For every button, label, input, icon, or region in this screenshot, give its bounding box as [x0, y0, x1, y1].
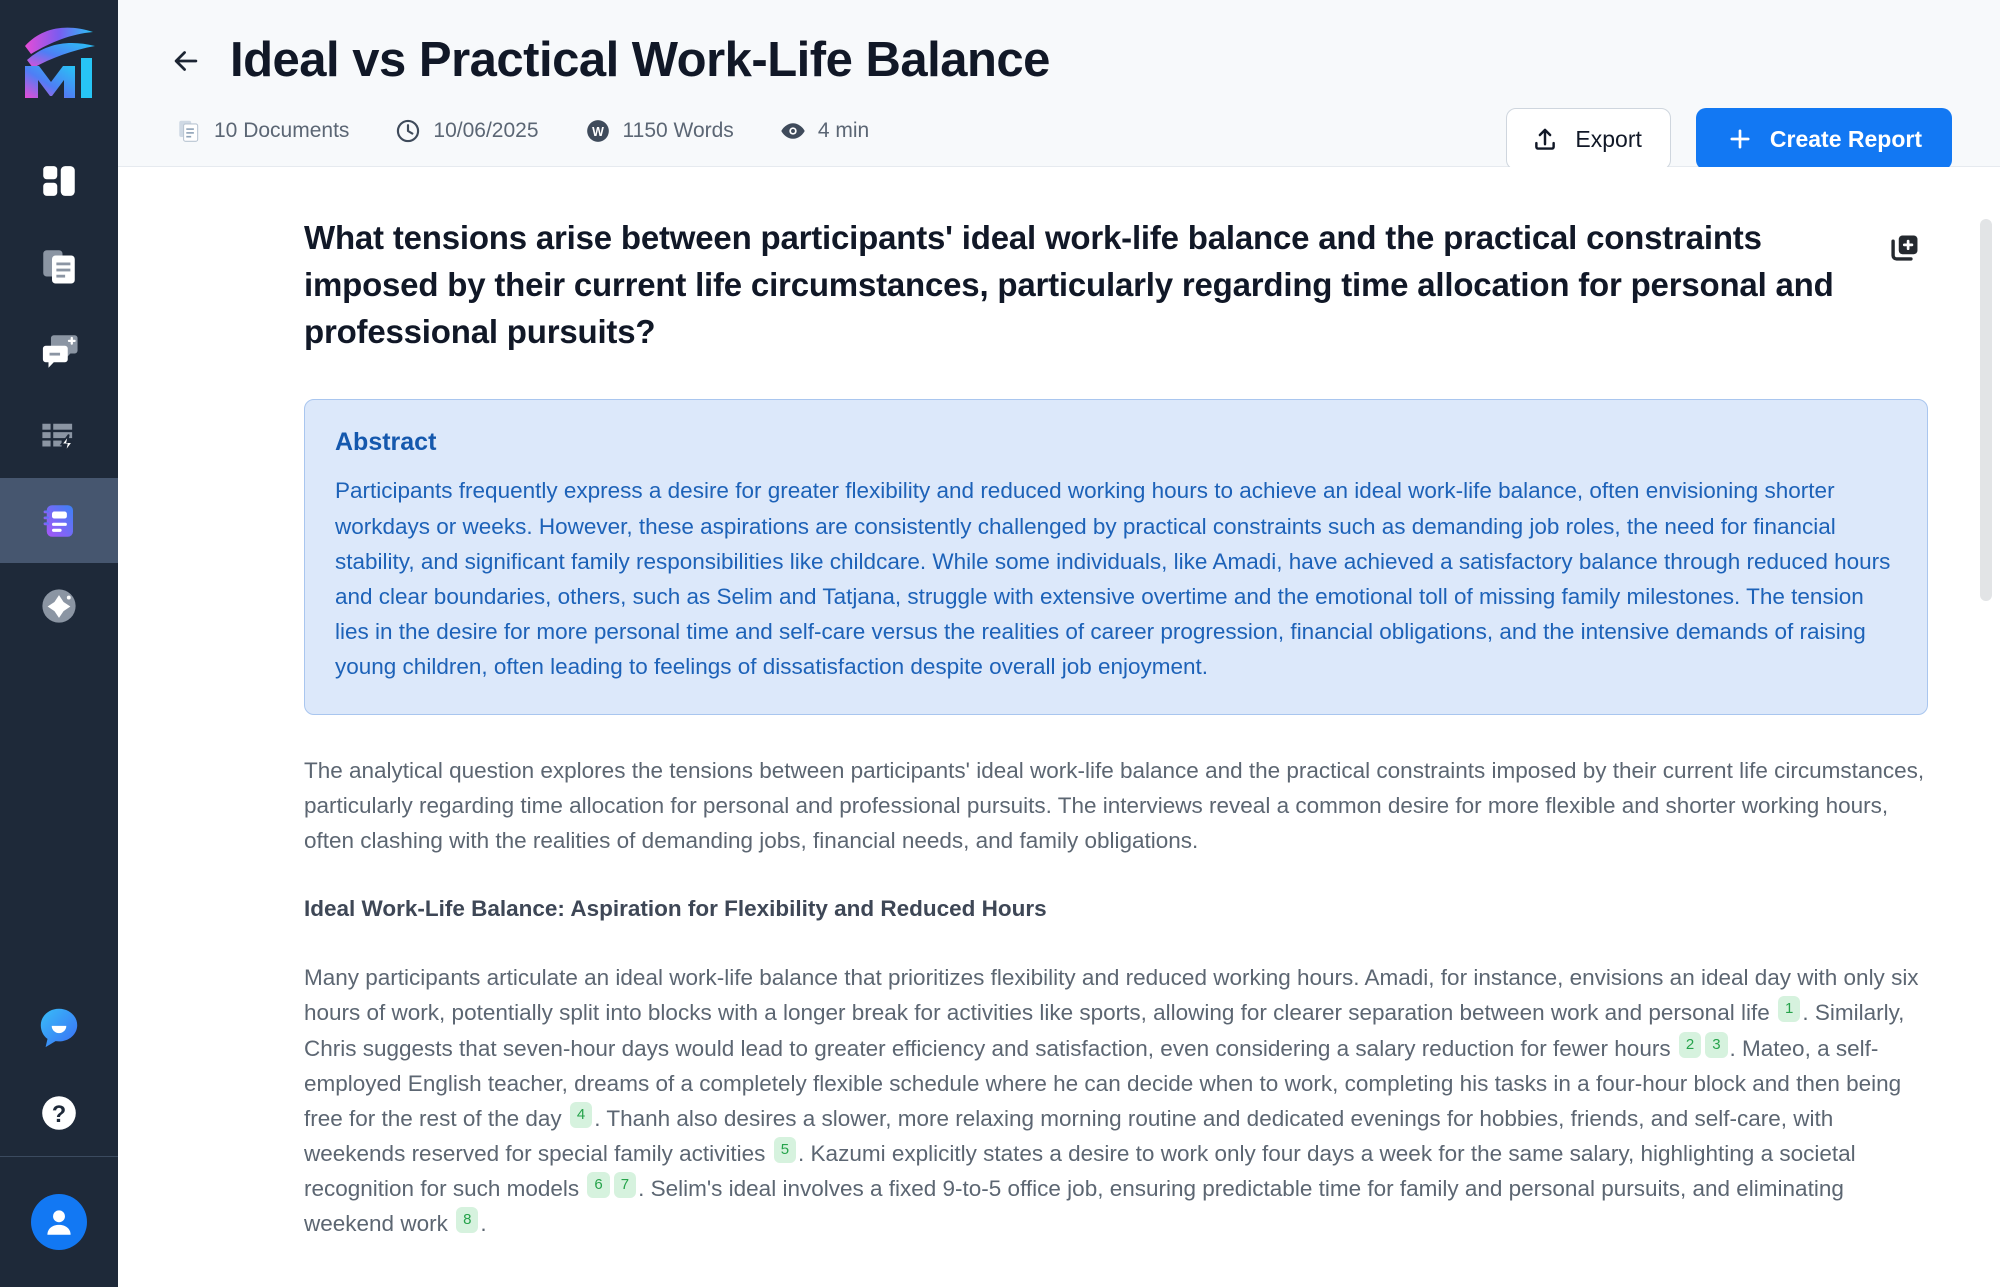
- sparkle-diamond-icon: [38, 585, 80, 627]
- table-lightning-icon: [38, 415, 80, 457]
- documents-icon: [38, 245, 80, 287]
- body-paragraph-with-citations: Many participants articulate an ideal wo…: [304, 960, 1928, 1241]
- sidebar-item-matrix[interactable]: [0, 393, 118, 478]
- header-title-row: Ideal vs Practical Work-Life Balance: [166, 34, 1952, 88]
- user-avatar-icon: [42, 1205, 76, 1239]
- app-root: ?: [0, 0, 2000, 1287]
- header-actions: Export Create Report: [1506, 108, 1952, 170]
- eye-icon: [780, 118, 806, 144]
- plus-icon: [1726, 125, 1754, 153]
- citation-4[interactable]: 4: [570, 1102, 592, 1128]
- arrow-left-icon: [169, 44, 203, 78]
- main-area: Ideal vs Practical Work-Life Balance 10 …: [118, 0, 2000, 1287]
- meta-readtime: 4 min: [780, 118, 869, 144]
- add-to-report-button[interactable]: [1882, 225, 1928, 271]
- page-title: Ideal vs Practical Work-Life Balance: [230, 34, 1050, 88]
- citation-1[interactable]: 1: [1778, 996, 1800, 1022]
- section-heading: Ideal Work-Life Balance: Aspiration for …: [304, 896, 1928, 922]
- meta-words: W 1150 Words: [585, 118, 734, 144]
- sidebar-item-chats[interactable]: [0, 308, 118, 393]
- question-mark-icon: ?: [38, 1092, 80, 1134]
- body-segment: Many participants articulate an ideal wo…: [304, 965, 1919, 1025]
- clock-icon: [395, 118, 421, 144]
- left-sidebar: ?: [0, 0, 118, 1287]
- app-logo[interactable]: [0, 0, 118, 118]
- support-chat-button[interactable]: [0, 984, 118, 1070]
- mi-logo-icon: [21, 20, 97, 102]
- page-header: Ideal vs Practical Work-Life Balance 10 …: [118, 0, 2000, 167]
- content-scrollbar-track[interactable]: [1980, 167, 1992, 1287]
- meta-list: 10 Documents 10/06/2025 W: [166, 118, 869, 144]
- content-scroll-region: What tensions arise between participants…: [118, 167, 2000, 1287]
- add-to-report-icon: [1888, 231, 1922, 265]
- meta-date-label: 10/06/2025: [433, 119, 538, 143]
- sidebar-bottom: ?: [0, 984, 118, 1287]
- sidebar-item-dashboard[interactable]: [0, 138, 118, 223]
- citation-8[interactable]: 8: [456, 1207, 478, 1233]
- meta-date: 10/06/2025: [395, 118, 538, 144]
- citation-5[interactable]: 5: [774, 1137, 796, 1163]
- chat-add-icon: [38, 330, 80, 372]
- svg-text:?: ?: [52, 1102, 66, 1128]
- meta-words-label: 1150 Words: [623, 119, 734, 143]
- analytical-question: What tensions arise between participants…: [304, 215, 1862, 356]
- create-report-button-label: Create Report: [1770, 126, 1922, 153]
- word-count-icon: W: [585, 118, 611, 144]
- svg-text:W: W: [592, 125, 604, 139]
- meta-documents: 10 Documents: [176, 118, 349, 144]
- chat-bubble-icon: [36, 1004, 82, 1050]
- abstract-panel: Abstract Participants frequently express…: [304, 399, 1928, 715]
- sidebar-item-ai-assist[interactable]: [0, 563, 118, 648]
- notebook-icon: [38, 500, 80, 542]
- sidebar-item-documents[interactable]: [0, 223, 118, 308]
- citation-3[interactable]: 3: [1705, 1032, 1727, 1058]
- content-scrollbar-thumb[interactable]: [1980, 219, 1992, 601]
- abstract-text: Participants frequently express a desire…: [335, 473, 1897, 684]
- upload-icon: [1531, 125, 1559, 153]
- help-button[interactable]: ?: [0, 1070, 118, 1156]
- meta-readtime-label: 4 min: [818, 119, 869, 143]
- export-button[interactable]: Export: [1506, 108, 1670, 170]
- question-row: What tensions arise between participants…: [304, 215, 1928, 356]
- profile-button[interactable]: [0, 1157, 118, 1287]
- dashboard-icon: [38, 160, 80, 202]
- body-segment: .: [480, 1211, 486, 1236]
- create-report-button[interactable]: Create Report: [1696, 108, 1952, 170]
- citation-6[interactable]: 6: [587, 1172, 609, 1198]
- document-stack-icon: [176, 118, 202, 144]
- citation-2[interactable]: 2: [1679, 1032, 1701, 1058]
- export-button-label: Export: [1575, 126, 1641, 153]
- avatar: [31, 1194, 87, 1250]
- report-content: What tensions arise between participants…: [118, 167, 2000, 1281]
- citation-7[interactable]: 7: [614, 1172, 636, 1198]
- sidebar-item-reports[interactable]: [0, 478, 118, 563]
- abstract-title: Abstract: [335, 428, 1897, 457]
- meta-documents-label: 10 Documents: [214, 119, 349, 143]
- back-button[interactable]: [166, 41, 206, 81]
- intro-paragraph: The analytical question explores the ten…: [304, 753, 1928, 858]
- sidebar-nav: [0, 138, 118, 648]
